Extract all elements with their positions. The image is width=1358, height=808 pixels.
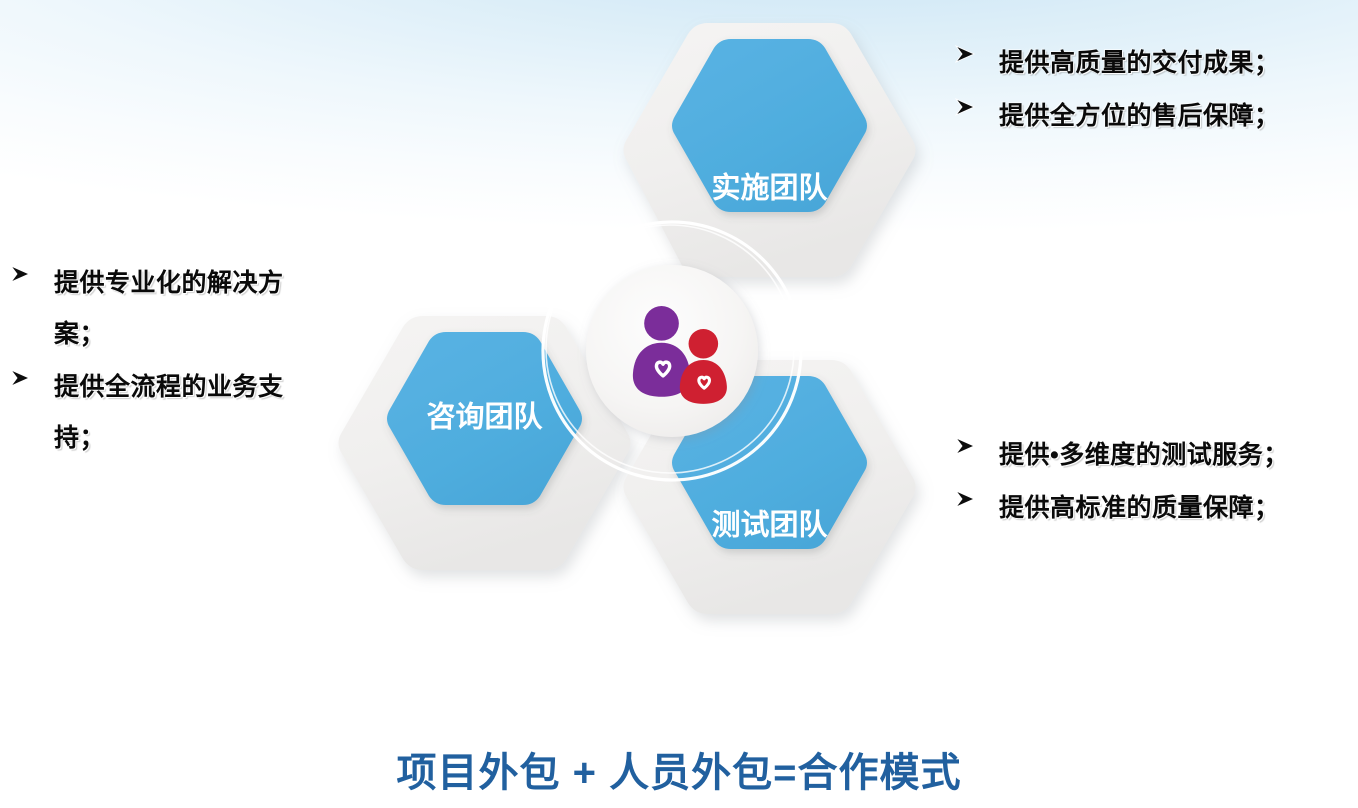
bullet-text: 提供•多维度的测试服务；: [999, 430, 1300, 481]
bullet-block-top-right: 提供高质量的交付成果； 提供全方位的售后保障；: [955, 38, 1295, 144]
arrowhead-bullet-icon: [955, 91, 999, 117]
bullet-item: 提供全方位的售后保障；: [955, 91, 1295, 142]
bullet-text: 提供专业化的解决方案；: [54, 258, 310, 360]
bullet-item: 提供专业化的解决方案；: [10, 258, 310, 360]
hexagon-cluster-diagram: 实施团队 咨询团队 测试团队: [290, 0, 990, 700]
bullet-item: 提供•多维度的测试服务；: [955, 430, 1300, 481]
bullet-block-left: 提供专业化的解决方案； 提供全流程的业务支持；: [10, 258, 310, 466]
arrowhead-bullet-icon: [10, 362, 54, 388]
arrowhead-bullet-icon: [10, 258, 54, 284]
bullet-text: 提供高标准的质量保障；: [999, 483, 1300, 534]
hex-label-consulting: 咨询团队: [426, 401, 543, 434]
bullet-text: 提供高质量的交付成果；: [999, 38, 1295, 89]
bullet-item: 提供全流程的业务支持；: [10, 362, 310, 464]
bullet-item: 提供高标准的质量保障；: [955, 483, 1300, 534]
slide-canvas: 实施团队 咨询团队 测试团队: [0, 0, 1358, 808]
hex-label-implementation: 实施团队: [711, 171, 828, 205]
arrowhead-bullet-icon: [955, 430, 999, 456]
bullet-text: 提供全方位的售后保障；: [999, 91, 1295, 142]
arrowhead-bullet-icon: [955, 38, 999, 64]
bullet-item: 提供高质量的交付成果；: [955, 38, 1295, 89]
bottom-title: 项目外包 + 人员外包=合作模式: [0, 740, 1358, 798]
hex-label-testing: 测试团队: [711, 509, 828, 542]
arrowhead-bullet-icon: [955, 483, 999, 509]
bullet-block-bottom-right: 提供•多维度的测试服务； 提供高标准的质量保障；: [955, 430, 1300, 536]
bullet-text: 提供全流程的业务支持；: [54, 362, 310, 464]
